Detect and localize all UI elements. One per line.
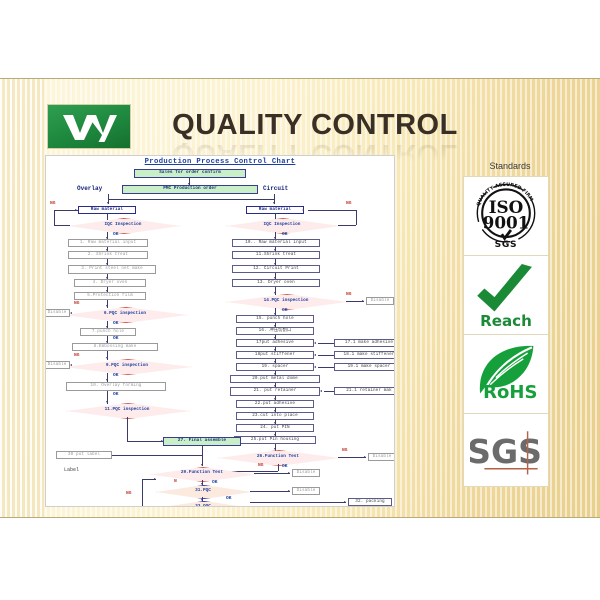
node-right-side-21-1[interactable]: 21.1 retainer mak (334, 387, 395, 395)
node-right-step-23[interactable]: 23.cut into place (236, 412, 314, 420)
node-right-side-18-1[interactable]: 18.1 make stiffener (334, 351, 395, 359)
logo-iso-9001-sgs: ISO 9001 SGS QUALITY ASSURED FIRM (463, 176, 549, 256)
decision-left-pqc-9[interactable]: 9.PQC inspection (64, 359, 190, 373)
node-left-step-8[interactable]: 8.Embossing make (72, 343, 158, 351)
node-final-assemble[interactable]: 27. Final assemble (163, 437, 241, 446)
node-disable-left-6[interactable]: Disable (45, 309, 70, 317)
svg-text:RoHS: RoHS (483, 382, 537, 403)
node-left-raw-material[interactable]: Raw material (78, 206, 136, 214)
decision-right-iqc-inspection[interactable]: IQC Inspection (226, 218, 338, 232)
logo-sgs: SGS (463, 413, 549, 487)
node-left-step-1[interactable]: 1. Raw material input (68, 239, 148, 247)
decision-right-function-test-26[interactable]: 26.Function Test (218, 450, 338, 464)
ok-label-left-iqc: OK (113, 233, 119, 238)
slide: QUALITY CONTROL QUALITY CONTROL Producti… (0, 78, 600, 518)
ng-label-left-9: NG (74, 354, 80, 359)
decision-oqc-33[interactable]: 33.OQC (156, 501, 250, 507)
ok-label-left-10: OK (113, 393, 119, 398)
node-right-step-12[interactable]: 12. Circuit Print (232, 265, 320, 273)
svg-text:SGS: SGS (470, 432, 542, 471)
node-disable-right-14[interactable]: Disable (366, 297, 394, 305)
node-packing-32[interactable]: 32. packing (348, 498, 392, 506)
label-text: Label (64, 468, 79, 473)
node-right-step-22[interactable]: 22.put adhesive (236, 400, 314, 408)
ok-label-left-7: OK (113, 337, 119, 342)
node-right-step-10[interactable]: 10.. Raw material input (232, 239, 320, 247)
ok-label-right-26: OK (282, 465, 288, 470)
node-left-step-7[interactable]: 7.punch hole (80, 328, 136, 336)
ok-label-31: OK (226, 497, 232, 502)
ng-label-right-iqc: NG (346, 202, 352, 207)
decision-left-pqc-6[interactable]: 6.PQC inspection (64, 307, 186, 321)
node-disable-29[interactable]: Disable (292, 469, 320, 477)
svg-text:9001: 9001 (483, 213, 530, 233)
ok-label-left-6: OK (113, 322, 119, 327)
node-right-step-18[interactable]: 18put stiffener (236, 351, 314, 359)
node-right-step-21[interactable]: 21. put retainer (230, 387, 320, 396)
node-disable-31[interactable]: Disable (292, 487, 320, 495)
node-disable-left-9[interactable]: Disable (45, 361, 70, 369)
n-label-29: N (174, 480, 177, 485)
node-left-step-3[interactable]: 3. Print steel net make (68, 265, 156, 274)
logo-rohs: RoHS (463, 334, 549, 414)
node-right-step-15[interactable]: 15. punch hole (236, 315, 314, 323)
node-left-step-5[interactable]: 5.Protection film (74, 292, 146, 300)
ng-label-left-iqc: NG (50, 202, 56, 207)
node-right-raw-material[interactable]: Raw material (246, 206, 304, 214)
node-left-step-10[interactable]: 10. Overlay forming (66, 382, 166, 391)
decision-right-pqc-14[interactable]: 14.PQC inspection (226, 294, 346, 308)
company-logo (47, 104, 131, 149)
ok-label-left-9: OK (113, 374, 119, 379)
logo-reach: Reach (463, 255, 549, 335)
node-right-step-16[interactable]: 16. 冲压切割口 (236, 327, 314, 335)
decision-pqc-31[interactable]: 31.PQC (156, 485, 250, 497)
branch-label-circuit: Circuit (263, 186, 288, 192)
node-right-step-19[interactable]: 19. spacer (236, 363, 314, 371)
ng-label-right-26: NG (342, 449, 348, 454)
ng-label-29: NG (258, 464, 264, 469)
node-left-step-2[interactable]: 2. Shrink treat (68, 251, 148, 259)
node-sales-order-confirm[interactable]: Sales for order confirm (134, 169, 246, 178)
decision-left-iqc-inspection[interactable]: IQC Inspection (68, 218, 178, 232)
decision-function-test-29[interactable]: 29.Function Test (150, 467, 254, 480)
ok-label-right-iqc: OK (282, 233, 288, 238)
ng-label-right-14: NG (346, 293, 352, 298)
svg-text:Reach: Reach (480, 312, 532, 329)
node-right-step-20[interactable]: 20.put metal dome (230, 375, 320, 383)
decision-left-pqc-11[interactable]: 11.PQC inspection (66, 403, 188, 417)
node-right-side-17-1[interactable]: 17.1 make adhesive (334, 339, 395, 347)
flowchart-title: Production Process Control Chart (46, 158, 394, 166)
node-left-step-4[interactable]: 4. Dryer oven (74, 279, 146, 287)
page-title: QUALITY CONTROL (150, 105, 480, 145)
node-put-label[interactable]: 30 put label (56, 451, 112, 459)
branch-label-overlay: Overlay (77, 186, 102, 192)
ng-label-left-6: NG (74, 302, 80, 307)
node-right-step-11[interactable]: 11.Shrink treat (232, 251, 320, 259)
node-right-step-13[interactable]: 13. Dryer oven (232, 279, 320, 287)
node-right-step-25[interactable]: 25.put Pin housing (234, 436, 316, 444)
ng-label-31: NG (126, 492, 132, 497)
production-process-flowchart: Production Process Control Chart Sales f… (45, 155, 395, 507)
node-disable-right-26[interactable]: Disable (368, 453, 395, 461)
ok-label-right-14: OK (282, 309, 288, 314)
svg-text:SGS: SGS (495, 240, 518, 250)
node-right-step-24[interactable]: 24. put PIN (236, 424, 314, 432)
standards-label: Standards (460, 161, 560, 171)
node-right-step-17[interactable]: 17put adhesive (236, 339, 314, 347)
node-pmc-production-order[interactable]: PMC Production order (122, 185, 258, 194)
node-right-side-19-1[interactable]: 19.1 make spacer (334, 363, 395, 371)
